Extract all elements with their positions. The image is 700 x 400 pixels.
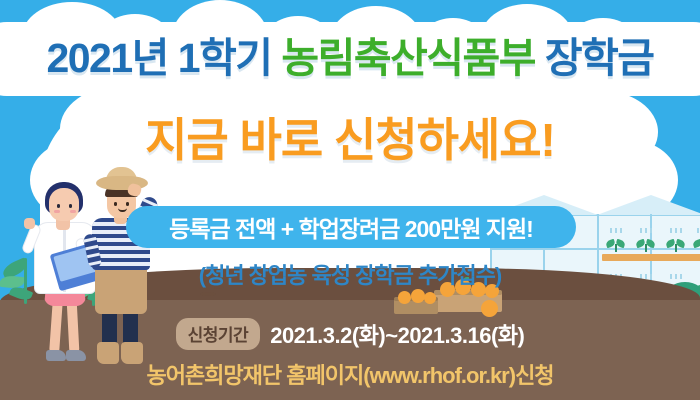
benefit-pill-text: 등록금 전액 + 학업장려금 200만원 지원!	[169, 210, 533, 244]
scholarship-promo-banner: 2021년 1학기 농림축산식품부 장학금 지금 바로 신청하세요! 등록금 전…	[0, 0, 700, 400]
sub-note-text: (청년 창업농 육성 장학금 추가접수)	[199, 263, 501, 288]
website-line-text: 농어촌희망재단 홈페이지(www.rhof.or.kr)신청	[146, 363, 553, 388]
greenhouse-roof-right	[597, 195, 700, 215]
irrigation-drip	[697, 228, 699, 233]
irrigation-drip	[620, 228, 622, 233]
woman-face	[52, 198, 76, 219]
irrigation-drip	[645, 228, 647, 233]
headline-part-ministry: 농림축산식품부	[281, 35, 535, 81]
irrigation-drip	[640, 228, 642, 233]
orange-crate-small	[394, 294, 438, 314]
irrigation-drip	[680, 228, 682, 233]
headline-part-year: 2021년 1학기	[46, 35, 281, 81]
orange-fruit	[424, 292, 436, 304]
man-eye-right	[126, 202, 129, 206]
woman-cheek-left	[54, 210, 60, 213]
headline-line-1: 2021년 1학기 농림축산식품부 장학금	[0, 24, 700, 84]
irrigation-drip	[650, 228, 652, 233]
soil-speck	[200, 292, 216, 296]
woman-cheek-right	[70, 210, 76, 213]
benefit-pill: 등록금 전액 + 학업장려금 200만원 지원!	[126, 206, 576, 248]
period-value: 2021.3.2(화)~2021.3.16(화)	[270, 318, 524, 350]
seedling	[695, 238, 700, 252]
orange-fruit	[411, 289, 425, 303]
woman-eye-right	[69, 204, 72, 208]
irrigation-drip	[675, 228, 677, 233]
application-period-row: 신청기간 2021.3.2(화)~2021.3.16(화)	[0, 318, 700, 350]
woman-hand-raised	[24, 218, 35, 229]
seedling	[608, 238, 624, 252]
seedling	[638, 238, 654, 252]
orange-fruit-loose	[481, 300, 498, 317]
irrigation-drip	[610, 228, 612, 233]
orange-fruit	[398, 291, 411, 304]
website-line: 농어촌희망재단 홈페이지(www.rhof.or.kr)신청	[0, 358, 700, 390]
woman-eye-left	[57, 204, 60, 208]
man-eye-left	[114, 202, 117, 206]
seedling	[668, 238, 684, 252]
period-badge: 신청기간	[176, 318, 261, 350]
headline-part-scholarship: 장학금	[535, 35, 654, 81]
headline-line-2-text: 지금 바로 신청하세요!	[145, 114, 555, 166]
sub-note: (청년 창업농 육성 장학금 추가접수)	[0, 258, 700, 290]
irrigation-drip	[615, 228, 617, 233]
irrigation-drip	[670, 228, 672, 233]
headline-line-2: 지금 바로 신청하세요!	[0, 104, 700, 170]
